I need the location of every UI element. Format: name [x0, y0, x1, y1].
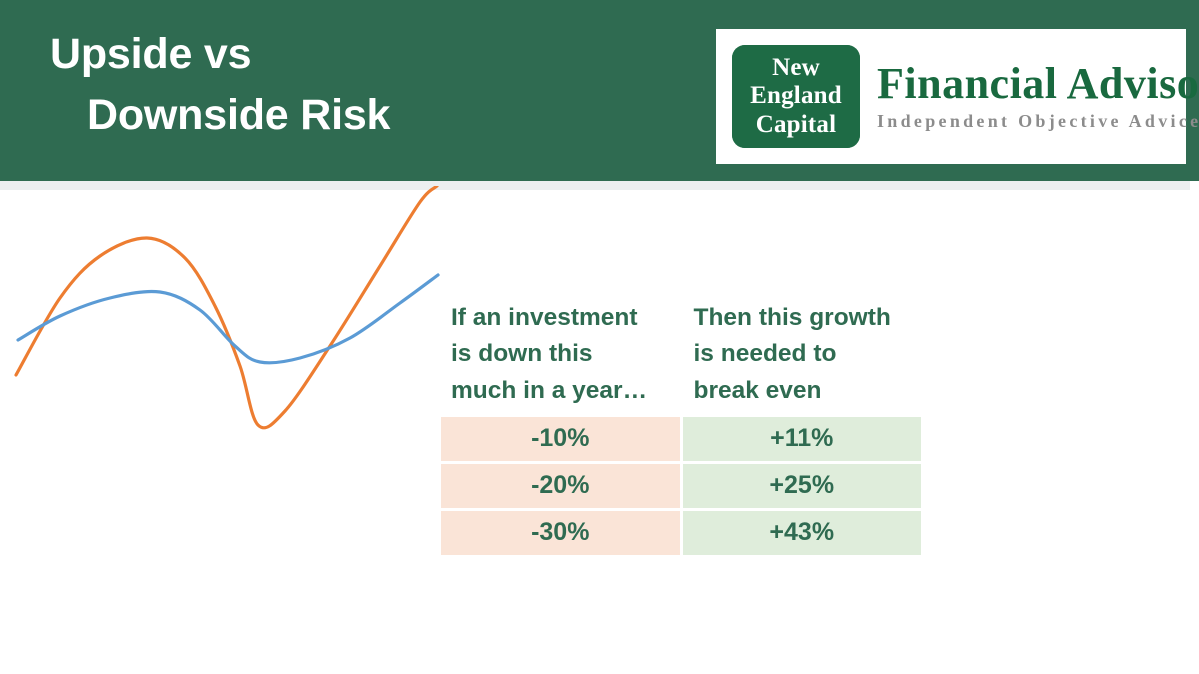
cell-loss: -30%: [441, 511, 680, 555]
table-row: -30% +43%: [441, 511, 921, 555]
table-row: -20% +25%: [441, 464, 921, 508]
table-header-row: If an investment is down this much in a …: [441, 300, 921, 409]
header-gain-line-3: break even: [694, 373, 914, 409]
table-body: -10% +11% -20% +25% -30% +43%: [441, 417, 921, 555]
break-even-table: If an investment is down this much in a …: [441, 300, 921, 558]
page-title: Upside vs Downside Risk: [50, 24, 670, 146]
logo-company-name: Financial Advisors: [877, 61, 1199, 107]
table-header-loss: If an investment is down this much in a …: [441, 300, 680, 409]
cell-gain: +11%: [683, 417, 922, 461]
header-gain-line-2: is needed to: [694, 336, 914, 372]
logo-badge-line-2: England: [750, 82, 842, 110]
title-line-2: Downside Risk: [50, 85, 670, 146]
logo-badge: New England Capital: [732, 45, 860, 148]
logo-tagline: Independent Objective Advice: [877, 111, 1199, 132]
cell-gain: +25%: [683, 464, 922, 508]
header-loss-line-3: much in a year…: [451, 373, 672, 409]
cell-gain: +43%: [683, 511, 922, 555]
header-loss-line-2: is down this: [451, 336, 672, 372]
logo-wordmark: Financial Advisors Independent Objective…: [877, 61, 1199, 132]
header-gain-line-1: Then this growth: [694, 300, 914, 336]
cell-loss: -10%: [441, 417, 680, 461]
title-line-1: Upside vs: [50, 30, 251, 78]
low-volatility-curve: [18, 275, 438, 363]
logo-inner: New England Capital Financial Advisors I…: [724, 37, 1178, 156]
header-loss-line-1: If an investment: [451, 300, 672, 336]
logo-badge-line-3: Capital: [756, 111, 837, 139]
volatility-curves-illustration: [0, 186, 460, 446]
table-header-gain: Then this growth is needed to break even: [683, 300, 922, 409]
slide-canvas: Upside vs Downside Risk New England Capi…: [0, 0, 1199, 674]
company-logo: New England Capital Financial Advisors I…: [716, 29, 1186, 164]
logo-badge-line-1: New: [772, 54, 820, 82]
volatility-curves-svg: [0, 186, 460, 446]
cell-loss: -20%: [441, 464, 680, 508]
table-row: -10% +11%: [441, 417, 921, 461]
